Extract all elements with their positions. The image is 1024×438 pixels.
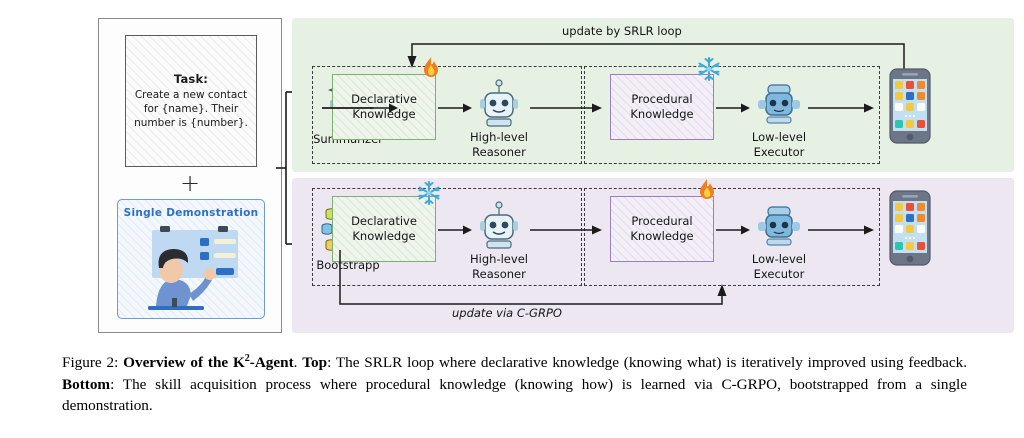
snowflake-icon <box>696 56 722 82</box>
figure-caption: Figure 2: Overview of the K2-Agent. Top:… <box>62 348 967 417</box>
high-level-reasoner-label: High-level Reasoner <box>452 130 546 159</box>
arrow-summarizer-to-declarative <box>370 100 398 116</box>
caption-title-b: -Agent <box>250 354 294 371</box>
single-demonstration-title: Single Demonstration <box>118 207 264 219</box>
caption-dot: . <box>294 354 303 371</box>
caption-title-a: Overview of the K <box>123 354 245 371</box>
low-level-executor-icon <box>754 78 804 128</box>
arrow-reasoner-to-procedural <box>530 100 602 116</box>
procedural-knowledge-line2: Knowledge <box>630 107 693 122</box>
demonstration-illustration-icon <box>126 224 258 314</box>
procedural-knowledge-line1: Procedural <box>631 92 692 107</box>
task-card: Task: Create a new contact for {name}. T… <box>125 35 257 167</box>
procedural-knowledge-box-top: Procedural Knowledge <box>610 74 714 140</box>
srlr-loop-row: update by SRLR loop Summarizer Declarati… <box>292 18 1014 172</box>
caption-top-label: Top <box>302 354 327 371</box>
c-grpo-loop-label: update via C-GRPO <box>452 306 562 320</box>
caption-figure-number: Figure 2: <box>62 354 118 371</box>
task-body: Create a new contact for {name}. Their n… <box>132 88 250 130</box>
caption-bottom-label: Bottom <box>62 376 110 393</box>
skill-acquisition-row: Bootstrapp Declarative Knowledge <box>292 178 1014 333</box>
arrow-procedural-to-executor <box>716 100 750 116</box>
arrow-declarative-to-reasoner <box>438 100 472 116</box>
caption-bottom-text: : The skill acquisition process where pr… <box>62 376 967 415</box>
figure-overview-k2-agent: Task: Create a new contact for {name}. T… <box>0 0 1024 340</box>
single-demonstration-card: Single Demonstration <box>117 199 265 319</box>
input-panel: Task: Create a new contact for {name}. T… <box>98 18 282 333</box>
arrow-executor-to-device <box>808 100 874 116</box>
task-title: Task: <box>174 72 208 86</box>
low-level-executor-label: Low-level Executor <box>732 130 826 159</box>
smartphone-icon <box>889 68 931 144</box>
caption-top-text: : The SRLR loop where declarative knowle… <box>327 354 967 371</box>
high-level-reasoner-icon <box>474 76 524 128</box>
c-grpo-feedback-arrow <box>292 178 1014 333</box>
plus-icon: + <box>99 171 281 195</box>
